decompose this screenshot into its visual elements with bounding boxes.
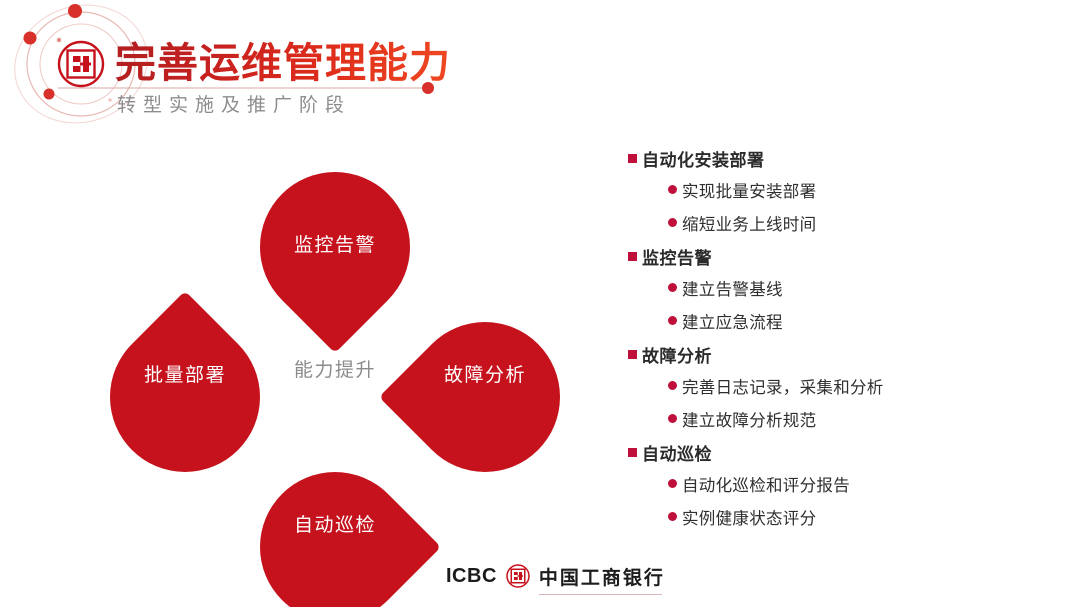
square-bullet-icon [628,252,637,261]
diagram-center-label: 能力提升 [260,355,410,382]
bullet-sub-item-label: 建立应急流程 [682,309,783,333]
square-bullet-icon [628,448,637,457]
square-bullet-icon [628,350,637,359]
bullet-group-heading-label: 自动巡检 [642,440,712,465]
bullet-group-heading: 自动巡检 [628,437,1028,467]
slide-canvas: 完善运维管理能力 转型实施及推广阶段 监控告警 故障分析 自动巡检 批量部署 能… [0,0,1080,607]
petal-shape-left[interactable] [79,291,291,503]
footer-brand-latin: ICBC [446,565,497,588]
bullet-group-heading-label: 故障分析 [642,342,712,367]
slide-header: 完善运维管理能力 转型实施及推广阶段 [0,0,1080,140]
petal-shape-top[interactable] [229,141,441,353]
square-bullet-icon [628,154,637,163]
bullet-group-heading-label: 自动化安装部署 [642,146,765,171]
bullet-list: 自动化安装部署 实现批量安装部署 缩短业务上线时间 监控告警 建立告警基线 [628,143,1028,535]
dot-bullet-icon [668,185,677,194]
dot-bullet-icon [668,414,677,423]
bullet-group-heading-label: 监控告警 [642,244,712,269]
bullet-sub-item: 实例健康状态评分 [668,500,1028,533]
petal-shape-right[interactable] [379,291,591,503]
page-subtitle: 转型实施及推广阶段 [117,92,351,120]
bullet-sub-item-label: 自动化巡检和评分报告 [682,472,850,496]
footer-brand: ICBC 中国工商银行 [446,562,665,590]
bullet-sub-item-label: 完善日志记录，采集和分析 [682,374,884,398]
petal-shape-bottom[interactable] [229,441,441,607]
bullet-group: 自动巡检 自动化巡检和评分报告 实例健康状态评分 [628,437,1028,533]
bullet-group: 故障分析 完善日志记录，采集和分析 建立故障分析规范 [628,339,1028,435]
bullet-sub-item: 建立故障分析规范 [668,402,1028,435]
dot-bullet-icon [668,218,677,227]
dot-bullet-icon [668,512,677,521]
page-title: 完善运维管理能力 [115,38,451,88]
dot-bullet-icon [668,283,677,292]
bullet-sub-item: 自动化巡检和评分报告 [668,467,1028,500]
bullet-group-heading: 故障分析 [628,339,1028,369]
bullet-sub-item: 实现批量安装部署 [668,173,1028,206]
bullet-sub-item-label: 建立故障分析规范 [682,407,816,431]
dot-bullet-icon [668,381,677,390]
bullet-sub-item: 建立告警基线 [668,271,1028,304]
bullet-sub-item-label: 缩短业务上线时间 [682,211,816,235]
icbc-logo-icon [506,564,530,588]
bullet-sub-item: 完善日志记录，采集和分析 [668,369,1028,402]
icbc-logo-icon [57,40,105,88]
bullet-sub-item: 缩短业务上线时间 [668,206,1028,239]
bullet-sub-item-label: 实例健康状态评分 [682,505,816,529]
petal-diagram: 监控告警 故障分析 自动巡检 批量部署 能力提升 [88,150,588,570]
bullet-sub-item-label: 实现批量安装部署 [682,178,816,202]
footer-brand-cn: 中国工商银行 [539,563,665,590]
bullet-group-heading: 自动化安装部署 [628,143,1028,173]
bullet-group-heading: 监控告警 [628,241,1028,271]
dot-bullet-icon [668,316,677,325]
bullet-group: 监控告警 建立告警基线 建立应急流程 [628,241,1028,337]
bullet-group: 自动化安装部署 实现批量安装部署 缩短业务上线时间 [628,143,1028,239]
dot-bullet-icon [668,479,677,488]
bullet-sub-item: 建立应急流程 [668,304,1028,337]
bullet-sub-item-label: 建立告警基线 [682,276,783,300]
